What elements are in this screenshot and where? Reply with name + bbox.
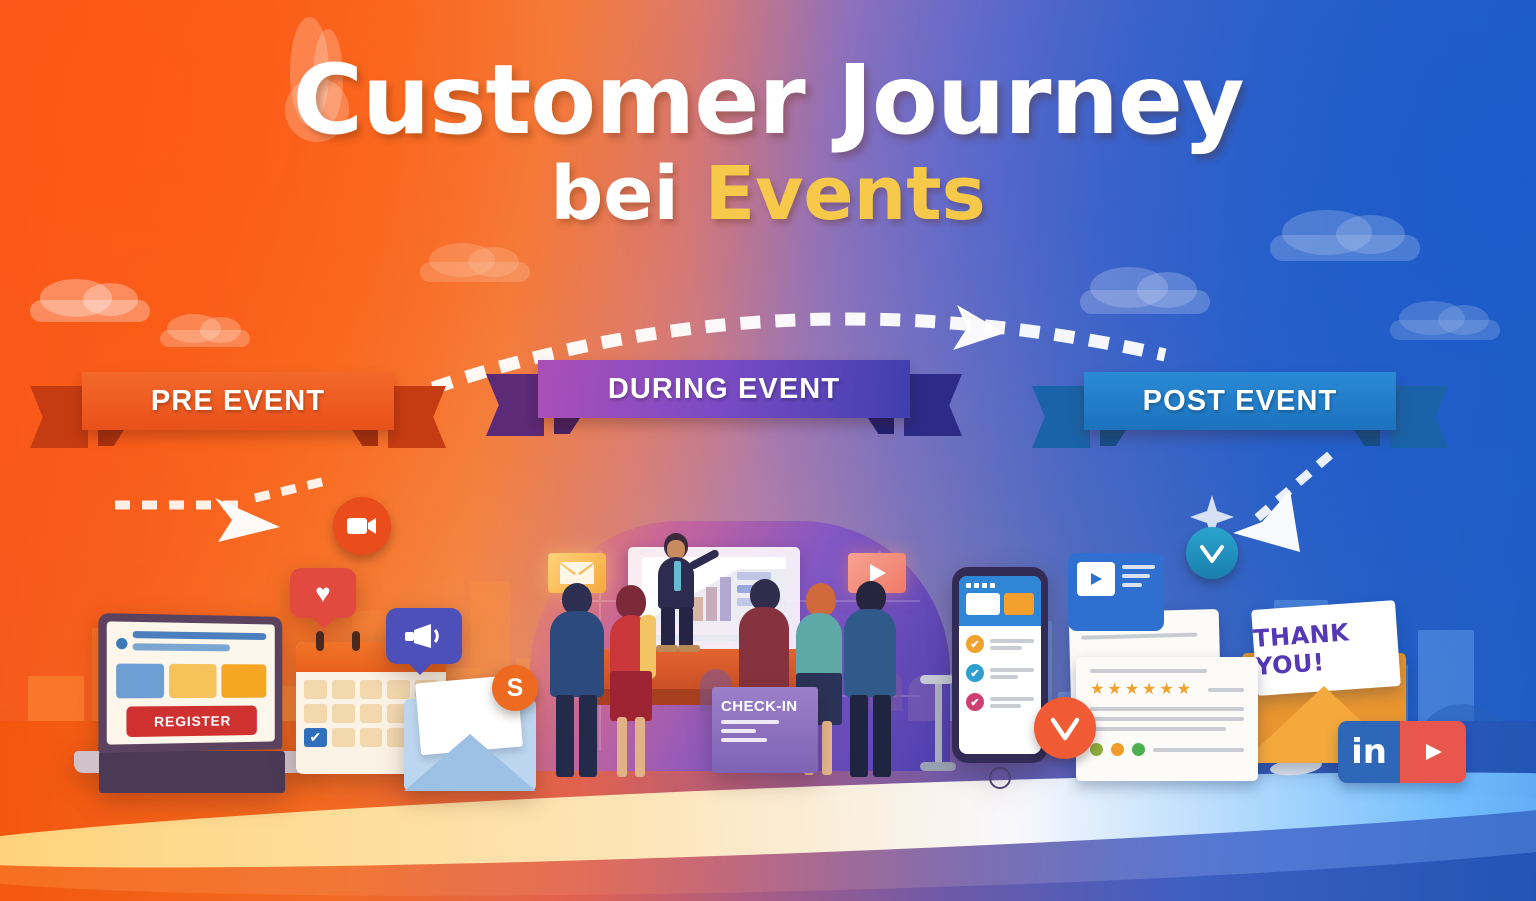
video-camera-icon[interactable] (333, 497, 391, 555)
youtube-icon[interactable] (1400, 721, 1466, 783)
phone-screen: ✔ ✔ ✔ (959, 576, 1041, 754)
calendar-day[interactable] (332, 680, 355, 699)
attendee-skirt (610, 671, 652, 721)
check-in-label: CHECK-IN (721, 698, 809, 715)
attendee-navy (838, 581, 900, 783)
attendee-head (616, 585, 646, 619)
attendee-leg (635, 717, 645, 777)
phase-banner-pre-event[interactable]: PRE EVENT (82, 372, 394, 430)
infographic-canvas: Customer Journey bei Events PRE EVENT DU… (0, 0, 1536, 901)
queue-stanchion (920, 675, 956, 771)
calendar-day[interactable] (360, 728, 383, 747)
laptop-lid: REGISTER (98, 613, 282, 753)
review-body-line (1090, 717, 1244, 721)
phase-label-post: POST EVENT (1084, 372, 1396, 430)
tag-dot (1090, 743, 1103, 756)
attendee-leg (850, 695, 868, 777)
attendee-torso (739, 607, 789, 691)
calendar-day[interactable] (360, 704, 383, 723)
survey-check-2[interactable]: ✔ (966, 664, 984, 682)
presenter-tie (674, 561, 681, 591)
title-line-1: Customer Journey (0, 52, 1536, 148)
nav-line (133, 643, 230, 651)
survey-check-3[interactable]: ✔ (966, 693, 984, 711)
email-envelope-pre[interactable] (404, 699, 536, 791)
calendar-day[interactable] (360, 680, 383, 699)
megaphone-bubble[interactable] (386, 608, 462, 664)
thank-you-card: THANK YOU! (1251, 600, 1401, 696)
dollar-badge-icon[interactable]: S (492, 665, 538, 711)
heart-reaction-bubble[interactable]: ♥ (290, 568, 356, 618)
attendee-blue-suit (546, 583, 608, 783)
video-thumbnail (1077, 562, 1115, 596)
tag-dot (1132, 743, 1145, 756)
attendee-torso (550, 611, 604, 697)
desk-line (721, 720, 779, 724)
social-share-buttons[interactable]: in (1338, 721, 1466, 783)
play-glyph (1418, 741, 1448, 763)
calendar-ring (352, 631, 360, 651)
video-camera-glyph (347, 516, 377, 536)
attendee-head (806, 583, 836, 617)
calendar-day-selected[interactable]: ✔ (304, 728, 327, 747)
check-badge-glyph (1199, 542, 1225, 564)
video-recap-card[interactable] (1068, 553, 1164, 631)
register-button[interactable]: REGISTER (126, 706, 256, 738)
stanchion-pole (935, 684, 942, 762)
attendee-leg (873, 695, 891, 777)
title-bei: bei (550, 151, 704, 237)
calendar-ring (316, 631, 324, 651)
phase-banner-during-event[interactable]: DURING EVENT (538, 360, 910, 418)
survey-phone[interactable]: ✔ ✔ ✔ (952, 567, 1048, 789)
site-logo-icon (116, 637, 127, 648)
attendee-red-dress (602, 585, 660, 783)
presenter-shoe (678, 645, 700, 652)
cloud-2 (160, 330, 250, 347)
calendar-day[interactable] (387, 680, 410, 699)
review-tag-dots (1090, 743, 1244, 756)
phone-survey-list: ✔ ✔ ✔ (959, 626, 1041, 720)
phase-banner-post-event[interactable]: POST EVENT (1084, 372, 1396, 430)
tag-dot (1111, 743, 1124, 756)
check-badge-glyph (1049, 714, 1081, 742)
review-card[interactable]: ★ ★ ★ ★ ★ ★ (1076, 657, 1258, 781)
attendee-leg (579, 695, 597, 777)
phone-home-button[interactable] (989, 767, 1011, 789)
cloud-1 (30, 300, 150, 322)
laptop-screen: REGISTER (107, 621, 275, 744)
video-card-lines (1122, 562, 1155, 622)
cloud-4 (1080, 290, 1210, 314)
linkedin-icon[interactable]: in (1338, 721, 1400, 783)
cloud-3 (420, 262, 530, 282)
review-body-line (1090, 707, 1244, 711)
tile (116, 664, 164, 699)
mail-glyph (560, 562, 594, 584)
tile (169, 664, 216, 698)
stanchion-base (920, 762, 956, 771)
laptop-base (74, 751, 310, 773)
check-badge-orange[interactable] (1034, 697, 1096, 759)
phase-label-during: DURING EVENT (538, 360, 910, 418)
desk-line (721, 738, 767, 742)
laptop-keyboard (99, 751, 285, 793)
site-tiles (116, 664, 266, 699)
page-title: Customer Journey bei Events (0, 52, 1536, 234)
title-events: Events (705, 151, 986, 237)
survey-check-1[interactable]: ✔ (966, 635, 984, 653)
check-in-desk[interactable]: CHECK-IN (712, 687, 818, 773)
heart-icon: ♥ (315, 580, 330, 606)
calendar-day[interactable] (304, 704, 327, 723)
attendee-scarf (640, 615, 656, 679)
presenter-leg (661, 607, 675, 647)
calendar-day[interactable] (304, 680, 327, 699)
desk-line (721, 729, 756, 733)
title-line-2: bei Events (0, 156, 1536, 234)
review-body-line (1090, 727, 1226, 731)
play-icon (1088, 571, 1104, 587)
attendee-leg (617, 717, 627, 777)
calendar-day[interactable] (332, 704, 355, 723)
thank-you-label: THANK YOU! (1252, 615, 1400, 681)
nav-line (133, 631, 267, 640)
presenter-leg (679, 607, 693, 647)
attendee-torso (844, 609, 896, 697)
review-title-line (1090, 669, 1207, 673)
cloud-6 (1390, 320, 1500, 340)
cloud-5 (1270, 235, 1420, 261)
check-badge-blue[interactable] (1186, 527, 1238, 579)
laptop[interactable]: REGISTER (100, 615, 310, 773)
attendee-leg (822, 721, 832, 775)
stanchion-top (920, 675, 954, 684)
calendar-day[interactable] (332, 728, 355, 747)
attendee-leg (556, 695, 574, 777)
tile (221, 664, 266, 698)
attendee-torso (796, 613, 842, 677)
phone-header (959, 576, 1041, 626)
review-stars: ★ ★ ★ ★ ★ ★ (1090, 682, 1244, 698)
megaphone-icon (405, 624, 443, 648)
phase-label-pre: PRE EVENT (82, 372, 394, 430)
